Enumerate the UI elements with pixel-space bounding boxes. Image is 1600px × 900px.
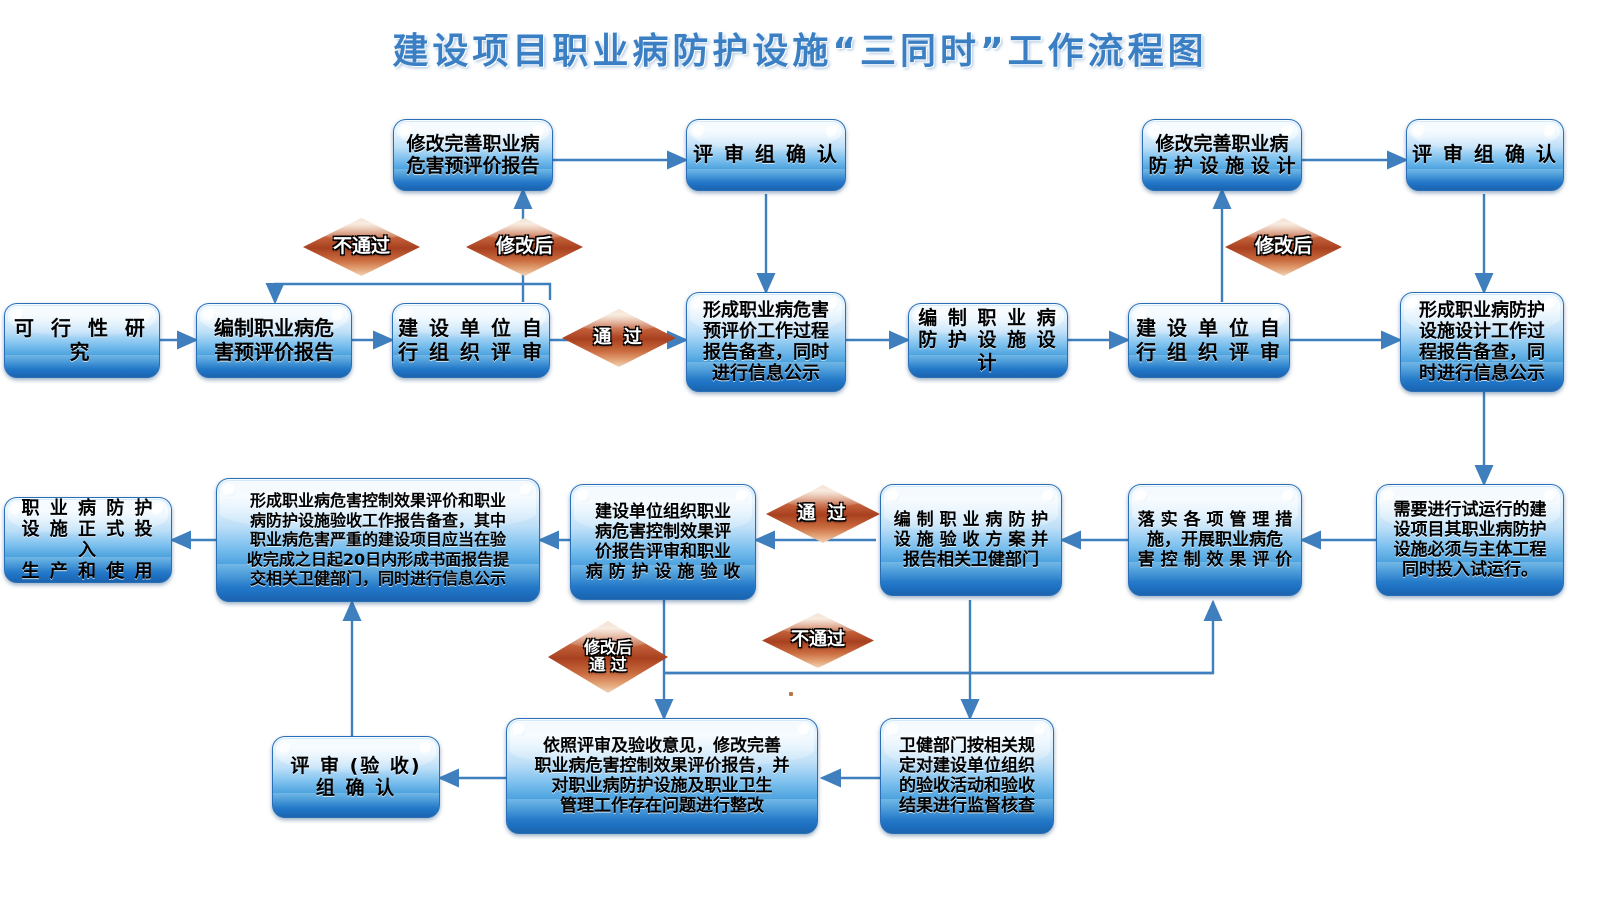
node-org-acceptance[interactable]: 建设单位组织职业 病危害控制效果评 价报告评审和职业 病 防 护 设 施 验 收 — [570, 484, 756, 600]
decision-label: 修改后 通 过 — [584, 640, 632, 674]
gloss-dot-left-icon — [279, 742, 292, 755]
node-label: 卫健部门按相关规 定对建设单位组织 的验收活动和验收 结果进行监督核查 — [895, 736, 1039, 816]
gloss-dot-right-icon — [420, 742, 433, 755]
node-label: 编制职业病危 害预评价报告 — [210, 317, 338, 364]
node-acceptance-filing[interactable]: 形成职业病危害控制效果评价和职业 病防护设施验收工作报告备查，其中 职业病危害严… — [216, 478, 540, 602]
node-review-confirm-1[interactable]: 评 审 组 确 认 — [686, 119, 846, 191]
decision-revise-pass[interactable]: 修改后 通 过 — [548, 621, 668, 693]
gloss-dot-left-icon — [693, 125, 706, 138]
node-label: 形成职业病危害 预评价工作过程 报告备查，同时 进行信息公示 — [699, 300, 833, 385]
gloss-dot-right-icon — [1544, 125, 1557, 138]
decision-fail-1[interactable]: 不通过 — [303, 218, 420, 276]
gloss-dot-right-icon — [826, 125, 839, 138]
node-label: 需要进行试运行的建 设项目其职业病防护 设施必须与主体工程 同时投入试运行。 — [1390, 500, 1551, 580]
decision-label: 不通过 — [333, 237, 390, 257]
decision-label: 通 过 — [593, 329, 644, 348]
gloss-dot-right-icon — [1042, 490, 1055, 503]
node-label: 建设单位组织职业 病危害控制效果评 价报告评审和职业 病 防 护 设 施 验 收 — [582, 502, 745, 582]
decision-label: 修改后 — [496, 237, 553, 257]
decision-after-revise-2[interactable]: 修改后 — [1225, 218, 1342, 276]
gloss-dot-left-icon — [887, 490, 900, 503]
node-label: 编 制 职 业 病 防 护 设 施 设 计 — [909, 307, 1067, 374]
node-health-supervision[interactable]: 卫健部门按相关规 定对建设单位组织 的验收活动和验收 结果进行监督核查 — [880, 718, 1054, 834]
decision-label: 修改后 — [1255, 237, 1312, 257]
node-label: 形成职业病危害控制效果评价和职业 病防护设施验收工作报告备查，其中 职业病危害严… — [243, 491, 513, 589]
node-label: 评 审 (验 收) 组 确 认 — [286, 755, 425, 800]
decision-after-revise-1[interactable]: 修改后 — [466, 218, 583, 276]
node-label: 修改完善职业病 防 护 设 施 设 计 — [1144, 133, 1299, 178]
node-review-confirm-2[interactable]: 评 审 组 确 认 — [1406, 119, 1564, 191]
node-label: 职 业 病 防 护 设 施 正 式 投 入 生 产 和 使 用 — [5, 498, 171, 583]
node-label: 落 实 各 项 管 理 措 施，开展职业病危 害 控 制 效 果 评 价 — [1134, 510, 1297, 570]
node-revise-design[interactable]: 修改完善职业病 防 护 设 施 设 计 — [1142, 119, 1302, 191]
node-label: 依照评审及验收意见，修改完善 职业病危害控制效果评价报告，并 对职业病防护设施及… — [531, 736, 794, 816]
gloss-dot-left-icon — [1413, 125, 1426, 138]
node-label: 形成职业病防护 设施设计工作过 程报告备查，同 时进行信息公示 — [1415, 300, 1549, 385]
node-label: 编 制 职 业 病 防 护 设 施 验 收 方 案 并 报告相关卫健部门 — [890, 510, 1053, 570]
artifact-speck — [789, 692, 793, 696]
node-pre-eval-filing[interactable]: 形成职业病危害 预评价工作过程 报告备查，同时 进行信息公示 — [686, 292, 846, 392]
gloss-dot-right-icon — [520, 484, 533, 497]
decision-pass-2[interactable]: 通 过 — [766, 485, 880, 543]
flowchart-canvas: 建设项目职业病防护设施“三同时”工作流程图 — [0, 0, 1600, 900]
node-design-filing[interactable]: 形成职业病防护 设施设计工作过 程报告备查，同 时进行信息公示 — [1400, 292, 1564, 392]
decision-pass-1[interactable]: 通 过 — [562, 309, 676, 367]
decision-label: 不通过 — [791, 631, 845, 650]
gloss-dot-right-icon — [1282, 490, 1295, 503]
node-label: 修改完善职业病 危害预评价报告 — [402, 133, 543, 178]
node-acceptance-confirm[interactable]: 评 审 (验 收) 组 确 认 — [272, 736, 440, 818]
node-acceptance-plan[interactable]: 编 制 职 业 病 防 护 设 施 验 收 方 案 并 报告相关卫健部门 — [880, 484, 1062, 596]
node-implement-measures[interactable]: 落 实 各 项 管 理 措 施，开展职业病危 害 控 制 效 果 评 价 — [1128, 484, 1302, 596]
node-label: 可 行 性 研 究 — [5, 317, 159, 364]
node-design-facility[interactable]: 编 制 职 业 病 防 护 设 施 设 计 — [908, 303, 1068, 378]
gloss-dot-left-icon — [1135, 490, 1148, 503]
node-feasibility[interactable]: 可 行 性 研 究 — [4, 303, 160, 378]
node-trial-run[interactable]: 需要进行试运行的建 设项目其职业病防护 设施必须与主体工程 同时投入试运行。 — [1376, 484, 1564, 596]
node-prepare-pre-eval[interactable]: 编制职业病危 害预评价报告 — [196, 303, 352, 378]
node-rectify[interactable]: 依照评审及验收意见，修改完善 职业病危害控制效果评价报告，并 对职业病防护设施及… — [506, 718, 818, 834]
decision-label: 通 过 — [797, 505, 848, 524]
node-put-into-use[interactable]: 职 业 病 防 护 设 施 正 式 投 入 生 产 和 使 用 — [4, 497, 172, 583]
node-label: 评 审 组 确 认 — [1408, 143, 1562, 167]
node-label: 评 审 组 确 认 — [689, 143, 843, 167]
node-self-review-2[interactable]: 建 设 单 位 自 行 组 织 评 审 — [1128, 303, 1290, 378]
gloss-dot-left-icon — [223, 484, 236, 497]
gloss-dot-left-icon — [513, 724, 526, 737]
gloss-dot-right-icon — [798, 724, 811, 737]
node-label: 建 设 单 位 自 行 组 织 评 审 — [1132, 317, 1286, 364]
node-label: 建 设 单 位 自 行 组 织 评 审 — [394, 317, 548, 364]
decision-fail-2[interactable]: 不通过 — [762, 613, 874, 668]
node-revise-pre-eval[interactable]: 修改完善职业病 危害预评价报告 — [393, 119, 553, 191]
node-self-review-1[interactable]: 建 设 单 位 自 行 组 织 评 审 — [392, 303, 550, 378]
